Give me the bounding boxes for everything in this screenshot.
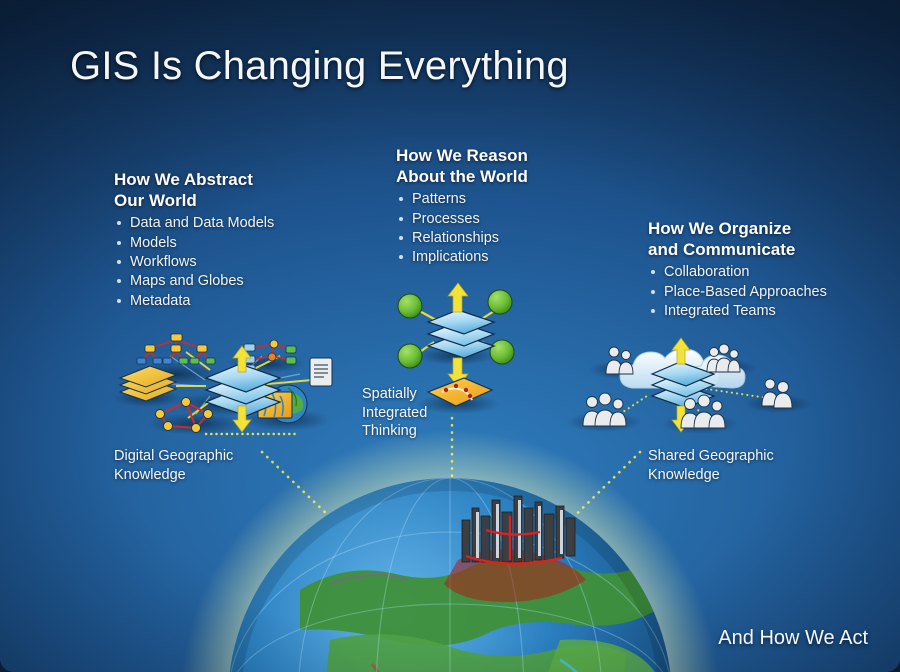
list-item: Processes — [396, 210, 646, 229]
heading-line-1: How We Reason — [396, 146, 528, 165]
list-item: Collaboration — [648, 263, 898, 282]
list-item: Patterns — [396, 190, 646, 209]
heading-line-2: and Communicate — [648, 240, 795, 259]
caption-line-1: Spatially — [362, 386, 417, 402]
column-reason-heading: How We Reason About the World — [396, 146, 646, 187]
list-item: Data and Data Models — [114, 214, 364, 233]
list-item: Implications — [396, 248, 646, 267]
caption-line-2: Knowledge — [648, 467, 720, 483]
list-item: Workflows — [114, 253, 364, 272]
list-item: Metadata — [114, 292, 364, 311]
column-reason: How We Reason About the World Patterns P… — [396, 146, 646, 268]
shared-geographic-knowledge-diagram — [566, 338, 812, 434]
digital-geographic-knowledge-diagram — [114, 334, 332, 435]
column-organize-list: Collaboration Place-Based Approaches Int… — [648, 263, 898, 321]
caption-shared-geographic-knowledge: Shared Geographic Knowledge — [648, 447, 818, 484]
heading-line-2: Our World — [114, 191, 197, 210]
caption-line-1: Shared Geographic — [648, 448, 774, 464]
column-abstract-list: Data and Data Models Models Workflows Ma… — [114, 214, 364, 310]
caption-spatially-integrated-thinking: Spatially Integrated Thinking — [362, 385, 452, 441]
list-item: Maps and Globes — [114, 272, 364, 291]
slide-canvas: GIS Is Changing Everything How We Abstra… — [0, 0, 900, 672]
caption-line-2: Knowledge — [114, 467, 186, 483]
column-reason-list: Patterns Processes Relationships Implica… — [396, 190, 646, 267]
caption-line-3: Thinking — [362, 423, 417, 439]
list-item: Models — [114, 234, 364, 253]
caption-line-2: Integrated — [362, 405, 427, 421]
page-title: GIS Is Changing Everything — [70, 44, 569, 89]
column-abstract-heading: How We Abstract Our World — [114, 170, 364, 211]
column-organize-heading: How We Organize and Communicate — [648, 219, 898, 260]
caption-digital-geographic-knowledge: Digital Geographic Knowledge — [114, 447, 274, 484]
column-organize: How We Organize and Communicate Collabor… — [648, 219, 898, 321]
illustration-layer — [0, 0, 900, 672]
heading-line-1: How We Abstract — [114, 170, 253, 189]
caption-line-1: Digital Geographic — [114, 448, 233, 464]
arrow-up-icon — [448, 283, 468, 312]
footer-tagline: And How We Act — [718, 627, 868, 650]
document-icon — [310, 358, 332, 386]
heading-line-1: How We Organize — [648, 219, 791, 238]
heading-line-2: About the World — [396, 167, 528, 186]
column-abstract: How We Abstract Our World Data and Data … — [114, 170, 364, 311]
list-item: Relationships — [396, 229, 646, 248]
list-item: Place-Based Approaches — [648, 283, 898, 302]
list-item: Integrated Teams — [648, 302, 898, 321]
